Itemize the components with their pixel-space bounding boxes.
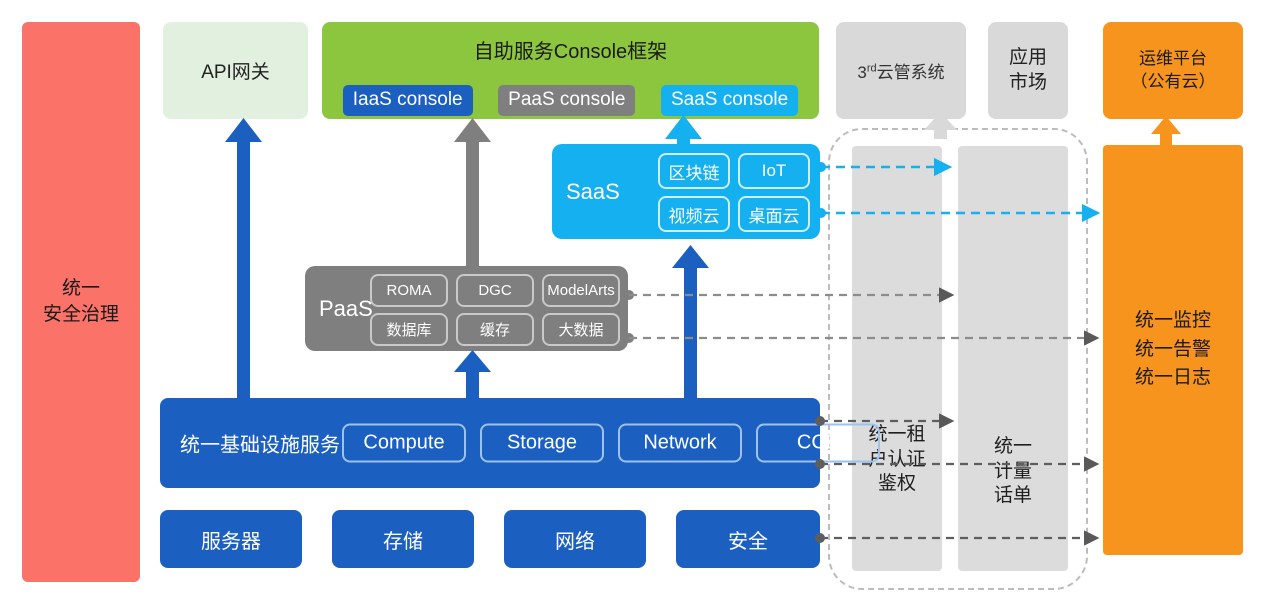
- arrow-infra-to-paas: [454, 350, 491, 399]
- arrow-saas-to-saas-console: [665, 115, 702, 152]
- dashed-saas-to-metering: [816, 162, 947, 172]
- arrow-shared-to-third-party: [924, 112, 957, 139]
- dashed-infra-to-ops-panel: [815, 459, 1095, 469]
- architecture-diagram: 统一 安全治理 API网关 自助服务Console框架 IaaS console…: [0, 0, 1265, 605]
- connector-layer: [0, 0, 1265, 605]
- dashed-paas-to-auth: [624, 290, 950, 300]
- dashed-saas-to-ops-panel: [816, 208, 1095, 218]
- dashed-infra-to-auth: [815, 416, 950, 426]
- arrow-infra-to-api-gateway: [225, 118, 262, 398]
- dashed-hardware-to-ops-panel: [815, 533, 1095, 543]
- arrow-ops-panel-to-ops-top: [1151, 116, 1181, 145]
- arrow-paas-to-console: [454, 118, 491, 267]
- arrow-infra-to-saas: [672, 245, 709, 399]
